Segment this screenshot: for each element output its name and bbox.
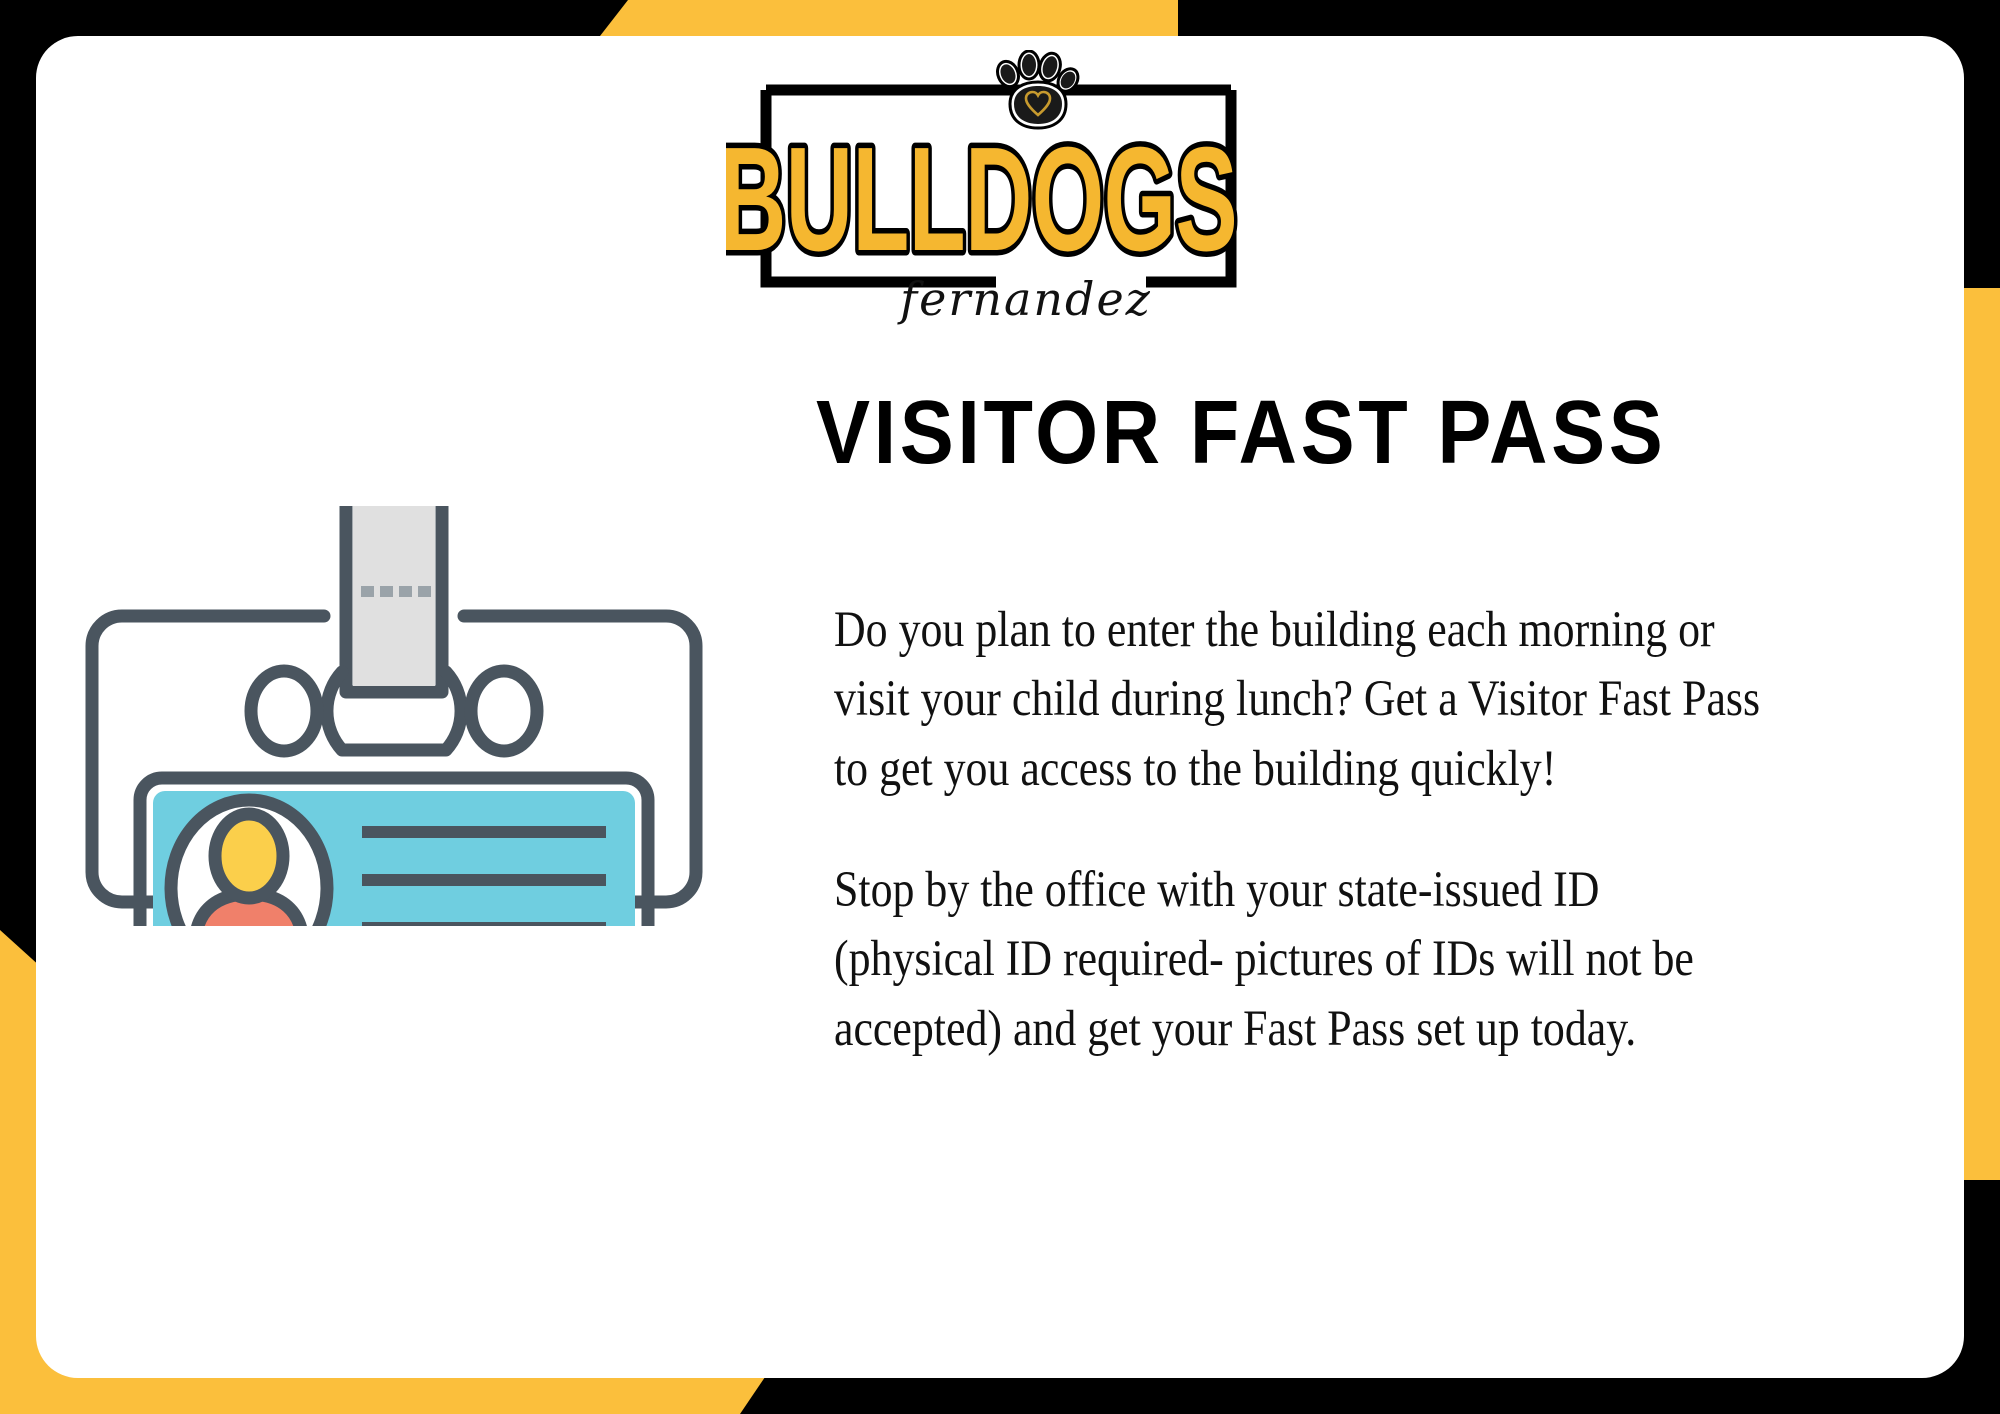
body-copy: Do you plan to enter the building each m… [834, 596, 1763, 1064]
accent-right-band [1960, 288, 2000, 1180]
accent-right-tip [1960, 288, 2000, 330]
accent-top-band [600, 0, 1178, 36]
bulldogs-logo: BULLDOGS fernandez [726, 50, 1326, 340]
poster-card: BULLDOGS fernandez VISITOR FAST PASS Do … [36, 36, 1964, 1378]
logo-wordmark: BULLDOGS [726, 117, 1237, 282]
badge-info-line-2 [362, 874, 606, 886]
page-title: VISITOR FAST PASS [816, 388, 1806, 478]
paragraph-intro: Do you plan to enter the building each m… [834, 596, 1763, 804]
badge-info-line-1 [362, 826, 606, 838]
paragraph-instructions: Stop by the office with your state-issue… [834, 856, 1763, 1064]
badge-info-line-3 [362, 922, 606, 926]
bulldogs-logo-svg: BULLDOGS fernandez [726, 50, 1326, 340]
badge-hole-right [471, 671, 537, 751]
logo-script-name: fernandez [897, 272, 1152, 326]
avatar-head [215, 814, 283, 898]
id-badge-illustration [84, 506, 744, 926]
id-badge-svg [84, 506, 744, 926]
person-avatar-icon [171, 800, 327, 926]
badge-hole-left [251, 671, 317, 751]
